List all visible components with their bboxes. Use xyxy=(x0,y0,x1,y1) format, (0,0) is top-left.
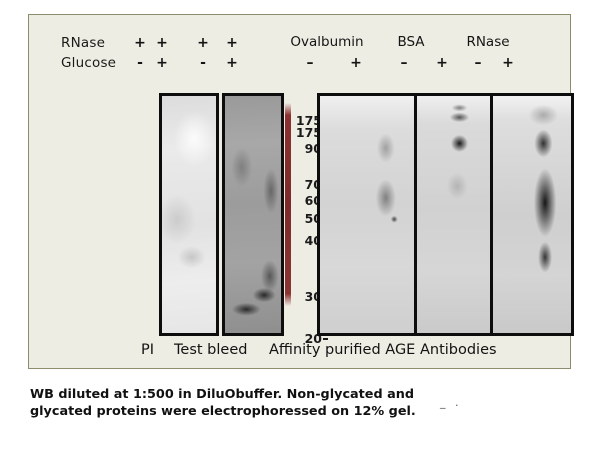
blot-lane-group-bsa xyxy=(416,96,491,333)
rnase-group-sign-plus: + xyxy=(501,55,515,71)
blot-lane-group-ovalbumin xyxy=(320,96,414,333)
glucose-sign-1: - xyxy=(133,55,147,71)
figure-caption: WB diluted at 1:500 in DiluObuffer. Non-… xyxy=(30,386,560,420)
rnase-sign-3: + xyxy=(196,35,210,51)
figure-panel: RNase Glucose + + + + - + - + Ovalbumin … xyxy=(28,14,571,369)
ovalbumin-sign-minus: – xyxy=(303,55,317,71)
condition-label-glucose: Glucose xyxy=(61,55,116,71)
caption-line-1: WB diluted at 1:500 in DiluObuffer. Non-… xyxy=(30,386,560,403)
glucose-sign-2: + xyxy=(155,55,169,71)
rnase-sign-1: + xyxy=(133,35,147,51)
rnase-sign-4: + xyxy=(225,35,239,51)
blot-panel-pi xyxy=(159,93,219,336)
lane-divider-1 xyxy=(414,96,417,333)
group-title-ovalbumin: Ovalbumin xyxy=(277,34,377,50)
bsa-sign-minus: – xyxy=(397,55,411,71)
caption-artifact-marks: _ . xyxy=(440,396,462,409)
group-title-rnase: RNase xyxy=(453,34,523,50)
blot-lane-group-rnase xyxy=(493,96,574,333)
caption-line-2: glycated proteins were electrophoressed … xyxy=(30,403,560,420)
lane-divider-2 xyxy=(490,96,493,333)
blot-panel-test-bleed xyxy=(222,93,284,336)
group-title-bsa: BSA xyxy=(381,34,441,50)
figure-background: RNase Glucose + + + + - + - + Ovalbumin … xyxy=(29,15,570,368)
glucose-sign-4: + xyxy=(225,55,239,71)
condition-label-rnase: RNase xyxy=(61,35,105,51)
bottom-label-pi: PI xyxy=(141,342,154,358)
rnase-sign-2: + xyxy=(155,35,169,51)
bottom-label-test-bleed: Test bleed xyxy=(174,342,247,358)
bottom-label-affinity-purified: Affinity purified AGE Antibodies xyxy=(269,342,497,358)
marker-strip-red xyxy=(285,103,291,306)
blot-panel-affinity-purified xyxy=(317,93,574,336)
rnase-group-sign-minus: – xyxy=(471,55,485,71)
ovalbumin-sign-plus: + xyxy=(349,55,363,71)
bsa-sign-plus: + xyxy=(435,55,449,71)
glucose-sign-3: - xyxy=(196,55,210,71)
